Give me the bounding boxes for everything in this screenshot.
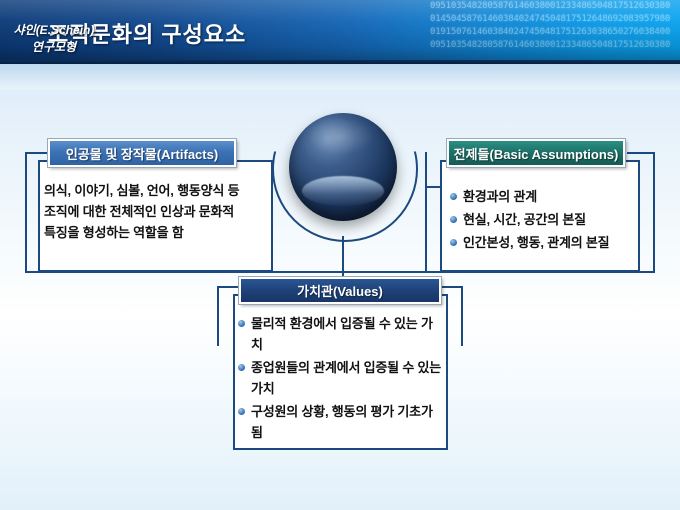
digit-row: 0145045876146038402474504817512648692083… <box>430 13 680 26</box>
sphere-top-highlight <box>308 118 373 155</box>
list-item: 종업원들의 관계에서 입증될 수 있는 가치 <box>238 357 442 399</box>
bracket-values-left-arm <box>217 286 239 288</box>
list-item: 구성원의 상황, 행동의 평가 기초가 됨 <box>238 401 442 443</box>
bracket-values-left <box>217 286 219 346</box>
bullet-dot-icon <box>450 239 457 246</box>
bracket-values-right-arm <box>440 286 463 288</box>
panel-artifacts-header: 인공물 및 장작물(Artifacts) <box>48 139 236 167</box>
panel-assumptions-body: 환경과의 관계 현실, 시간, 공간의 본질 인간본성, 행동, 관계의 본질 <box>450 186 636 255</box>
digit-row: 0191507614603840247450481751263038650276… <box>430 26 680 39</box>
panel-assumptions-title: 전제들(Basic Assumptions) <box>454 144 619 163</box>
assumptions-bullet-list: 환경과의 관계 현실, 시간, 공간의 본질 인간본성, 행동, 관계의 본질 <box>450 186 636 253</box>
header-fade-band <box>0 64 680 90</box>
bullet-dot-icon <box>450 216 457 223</box>
sphere-label-line1: 샤인(E.Schein) <box>0 22 108 39</box>
list-item-label: 물리적 환경에서 입증될 수 있는 가치 <box>251 316 433 352</box>
list-item-label: 현실, 시간, 공간의 본질 <box>463 212 586 227</box>
list-item-label: 환경과의 관계 <box>463 189 537 204</box>
bullet-dot-icon <box>238 364 245 371</box>
panel-values-title: 가치관(Values) <box>297 281 383 300</box>
connector-assumptions-stem <box>425 152 427 273</box>
list-item: 물리적 환경에서 입증될 수 있는 가치 <box>238 313 442 355</box>
list-item-label: 종업원들의 관계에서 입증될 수 있는 가치 <box>251 360 441 396</box>
panel-values-body: 물리적 환경에서 입증될 수 있는 가치 종업원들의 관계에서 입증될 수 있는… <box>238 313 442 445</box>
list-item: 인간본성, 행동, 관계의 본질 <box>450 232 636 253</box>
digit-row: 0951035482805876146038001233486504817512… <box>430 0 680 13</box>
bullet-dot-icon <box>238 408 245 415</box>
bullet-dot-icon <box>450 193 457 200</box>
panel-artifacts-title: 인공물 및 장작물(Artifacts) <box>66 144 218 163</box>
bullet-dot-icon <box>238 320 245 327</box>
sphere-gloss-highlight <box>302 176 384 206</box>
panel-artifacts-body: 의식, 이야기, 심볼, 언어, 행동양식 등 조직에 대한 전체적인 인상과 … <box>44 180 244 243</box>
bracket-right-vertical <box>653 152 655 273</box>
digit-texture-decoration: 0951035482805876146038001233486504817512… <box>430 0 680 60</box>
values-bullet-list: 물리적 환경에서 입증될 수 있는 가치 종업원들의 관계에서 입증될 수 있는… <box>238 313 442 443</box>
slide-canvas: 0951035482805876146038001233486504817512… <box>0 0 680 510</box>
list-item: 환경과의 관계 <box>450 186 636 207</box>
list-item-label: 인간본성, 행동, 관계의 본질 <box>463 235 609 250</box>
list-item: 현실, 시간, 공간의 본질 <box>450 209 636 230</box>
bracket-right-top-arm <box>627 152 655 154</box>
bracket-left-vertical <box>25 152 27 273</box>
bracket-values-right <box>461 286 463 346</box>
center-sphere-shape <box>289 113 397 221</box>
digit-row: 0951035482805876146038001233486504817512… <box>430 39 680 52</box>
panel-values-header: 가치관(Values) <box>239 277 441 304</box>
center-sphere-label: 샤인(E.Schein) 연구모형 <box>0 22 108 56</box>
panel-assumptions-header: 전제들(Basic Assumptions) <box>447 139 625 167</box>
sphere-label-line2: 연구모형 <box>0 39 108 56</box>
list-item-label: 구성원의 상황, 행동의 평가 기초가 됨 <box>251 404 433 440</box>
